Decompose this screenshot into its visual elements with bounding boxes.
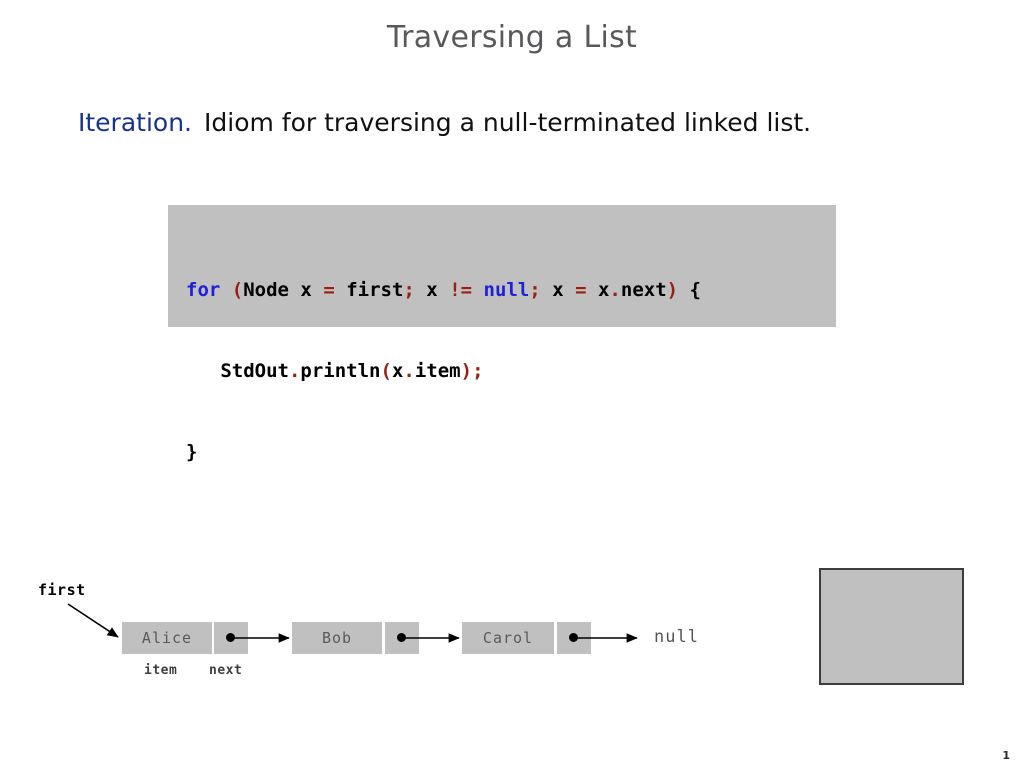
slide-canvas: { "slide": { "title": "Traversing a List… (0, 0, 1024, 768)
media-placeholder-box (819, 568, 964, 685)
list-node-item-cell: Carol (462, 622, 554, 654)
pointer-dot-icon (569, 633, 578, 642)
first-pointer-label: first (38, 581, 86, 599)
page-number: 1 (1002, 749, 1010, 762)
arrow-first-to-node1 (68, 604, 118, 637)
null-terminator-label: null (654, 627, 699, 647)
field-label-next: next (209, 663, 242, 678)
field-label-item: item (144, 663, 177, 678)
pointer-dot-icon (226, 633, 235, 642)
list-node-item-cell: Bob (292, 622, 382, 654)
list-node-item-cell: Alice (122, 622, 212, 654)
pointer-dot-icon (397, 633, 406, 642)
